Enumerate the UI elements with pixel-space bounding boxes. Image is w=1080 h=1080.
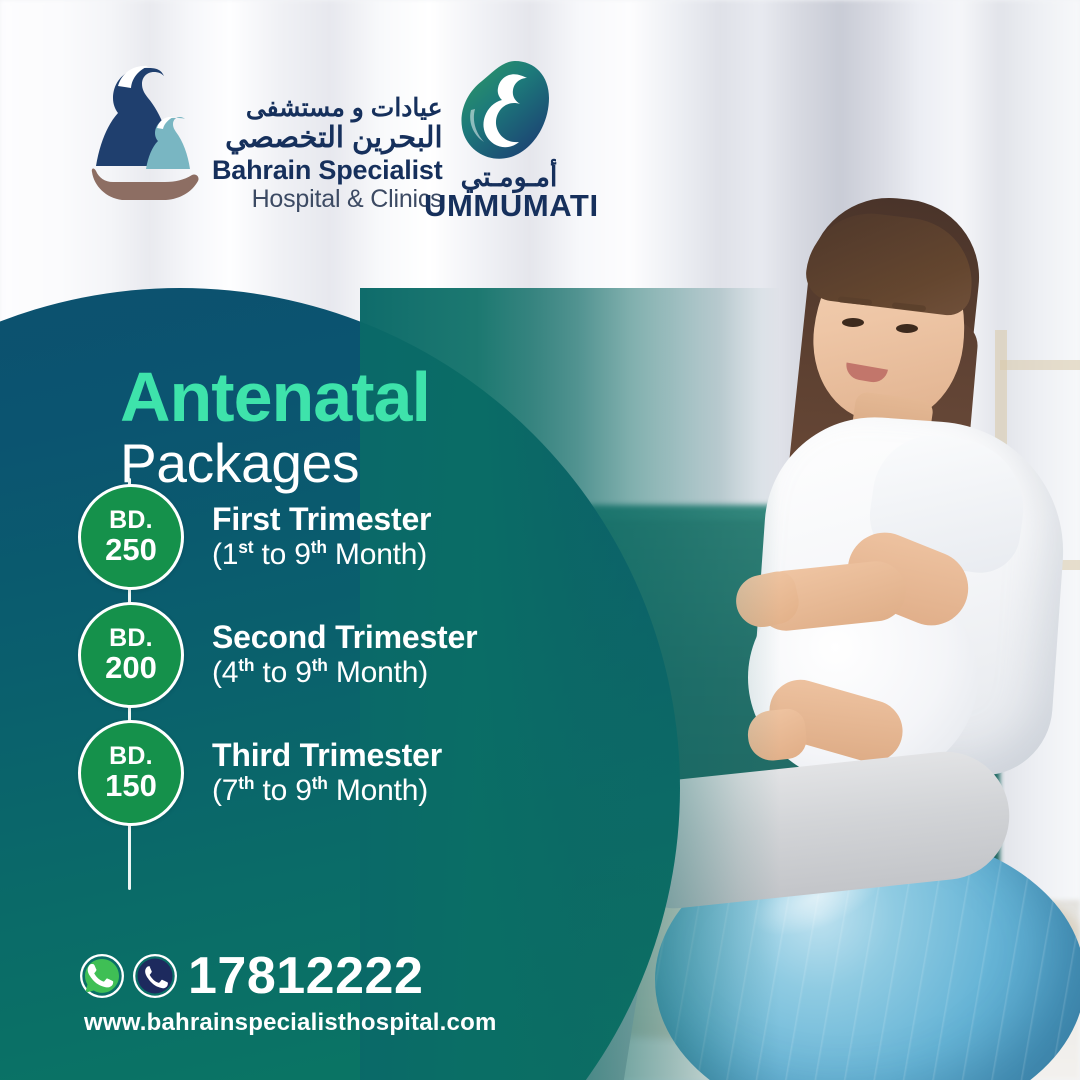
range-close: Month) bbox=[328, 774, 428, 807]
package-title: Second Trimester bbox=[212, 620, 477, 655]
package-month-range: (4th to 9th Month) bbox=[212, 656, 477, 690]
ummumati-arabic: أمـومـتي bbox=[424, 164, 594, 191]
range-to-number: 9 bbox=[295, 656, 312, 689]
title-line-antenatal: Antenatal bbox=[120, 364, 430, 431]
range-from-number: 7 bbox=[222, 774, 239, 807]
package-title: Third Trimester bbox=[212, 738, 442, 773]
range-from-number: 4 bbox=[222, 656, 239, 689]
page-title: Antenatal Packages bbox=[120, 364, 430, 491]
whatsapp-icon[interactable] bbox=[80, 954, 124, 998]
range-open: ( bbox=[212, 538, 222, 571]
range-close: Month) bbox=[327, 538, 427, 571]
price-badge: BD. 200 bbox=[78, 602, 184, 708]
phone-icon[interactable] bbox=[133, 954, 177, 998]
website-url[interactable]: www.bahrainspecialisthospital.com bbox=[84, 1009, 496, 1037]
range-to-word: to bbox=[254, 656, 295, 689]
range-to-word: to bbox=[253, 538, 294, 571]
price-amount: 250 bbox=[105, 534, 157, 567]
package-text: Second Trimester (4th to 9th Month) bbox=[212, 620, 477, 690]
range-to-number: 9 bbox=[294, 538, 311, 571]
packages-timeline: BD. 250 First Trimester (1st to 9th Mont… bbox=[78, 478, 598, 832]
range-to-number: 9 bbox=[295, 774, 312, 807]
hospital-arabic-line1: عيادات و مستشفى bbox=[246, 96, 443, 121]
range-to-word: to bbox=[254, 774, 295, 807]
package-month-range: (7th to 9th Month) bbox=[212, 774, 442, 808]
price-amount: 200 bbox=[105, 652, 157, 685]
package-text: Third Trimester (7th to 9th Month) bbox=[212, 738, 442, 808]
package-row-first[interactable]: BD. 250 First Trimester (1st to 9th Mont… bbox=[78, 478, 598, 596]
range-open: ( bbox=[212, 656, 222, 689]
price-badge: BD. 250 bbox=[78, 484, 184, 590]
range-to-ordinal: th bbox=[312, 773, 328, 793]
poster-canvas: عيادات و مستشفى البحرين التخصصي Bahrain … bbox=[0, 0, 1080, 1080]
range-from-ordinal: st bbox=[238, 537, 253, 557]
contact-phone-row: 17812222 bbox=[80, 950, 496, 1002]
price-currency: BD. bbox=[109, 744, 153, 769]
package-row-third[interactable]: BD. 150 Third Trimester (7th to 9th Mont… bbox=[78, 714, 598, 832]
package-title: First Trimester bbox=[212, 502, 431, 537]
range-from-ordinal: th bbox=[238, 773, 254, 793]
range-from-number: 1 bbox=[222, 538, 239, 571]
header: عيادات و مستشفى البحرين التخصصي Bahrain … bbox=[0, 0, 1080, 250]
ummumati-mother-child-logo-icon bbox=[449, 58, 569, 163]
hospital-english-line1: Bahrain Specialist bbox=[212, 157, 443, 184]
range-to-ordinal: th bbox=[311, 537, 327, 557]
range-close: Month) bbox=[328, 656, 428, 689]
contact-footer: 17812222 www.bahrainspecialisthospital.c… bbox=[80, 950, 496, 1037]
price-currency: BD. bbox=[109, 508, 153, 533]
price-amount: 150 bbox=[105, 770, 157, 803]
package-text: First Trimester (1st to 9th Month) bbox=[212, 502, 431, 572]
price-currency: BD. bbox=[109, 626, 153, 651]
package-row-second[interactable]: BD. 200 Second Trimester (4th to 9th Mon… bbox=[78, 596, 598, 714]
range-to-ordinal: th bbox=[312, 655, 328, 675]
price-badge: BD. 150 bbox=[78, 720, 184, 826]
ummumati-logo[interactable]: أمـومـتي UMMUMATI bbox=[424, 58, 594, 221]
bahrain-specialist-hospital-logo-icon bbox=[86, 62, 204, 212]
hospital-logo[interactable]: عيادات و مستشفى البحرين التخصصي Bahrain … bbox=[86, 62, 443, 212]
hospital-arabic-line2: البحرين التخصصي bbox=[225, 124, 442, 153]
hospital-logo-text: عيادات و مستشفى البحرين التخصصي Bahrain … bbox=[212, 96, 443, 212]
package-month-range: (1st to 9th Month) bbox=[212, 538, 431, 572]
hospital-english-line2: Hospital & Clinics bbox=[252, 187, 443, 212]
ummumati-english: UMMUMATI bbox=[424, 190, 594, 221]
phone-number[interactable]: 17812222 bbox=[188, 950, 423, 1002]
range-open: ( bbox=[212, 774, 222, 807]
range-from-ordinal: th bbox=[238, 655, 254, 675]
